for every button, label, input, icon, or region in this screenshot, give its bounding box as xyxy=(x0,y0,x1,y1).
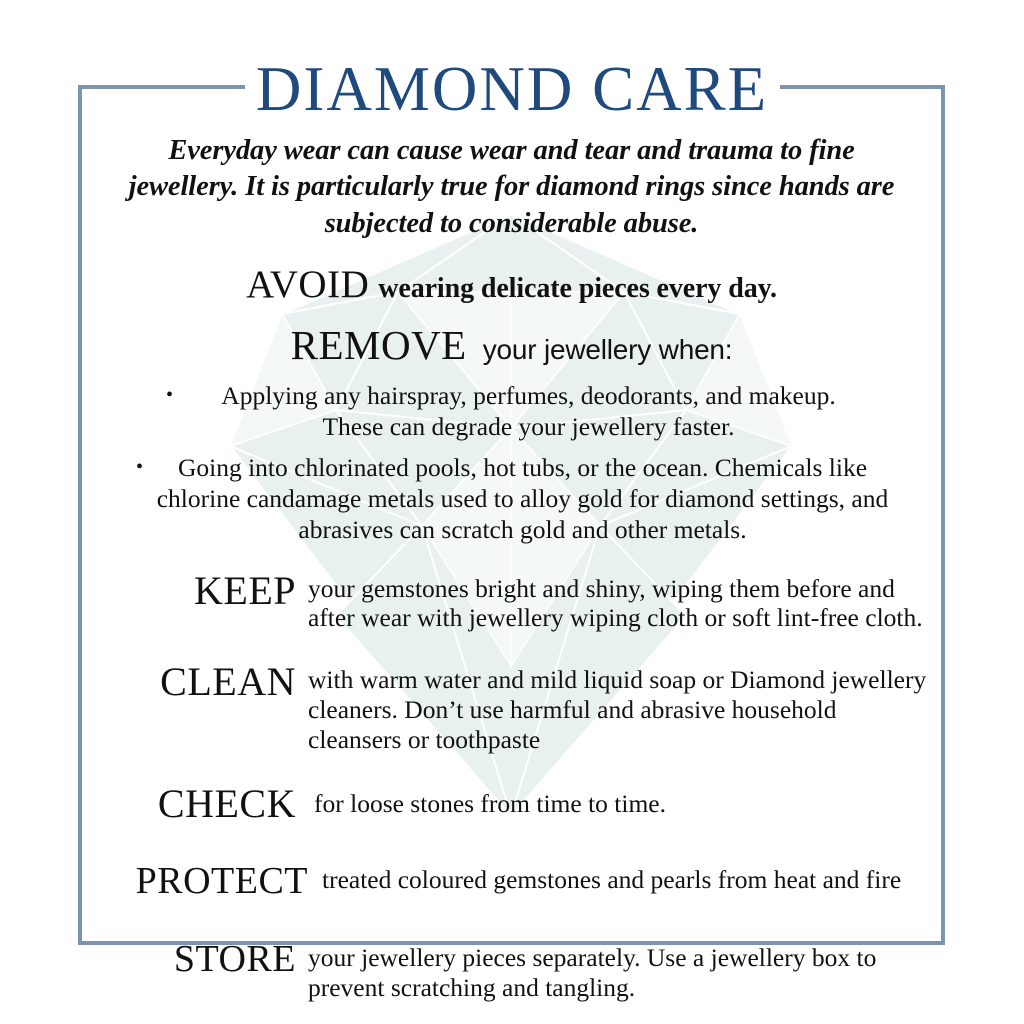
remove-bullet-list: • Applying any hairspray, perfumes, deod… xyxy=(96,381,927,545)
section-check: CHECK for loose stones from time to time… xyxy=(96,785,927,823)
lead-line-avoid: AVOIDwearing delicate pieces every day. xyxy=(96,262,927,307)
bullet-marker-icon: • xyxy=(136,453,143,482)
keyword-store: STORE xyxy=(96,941,296,977)
section-text-store: your jewellery pieces separately. Use a … xyxy=(296,941,927,1003)
section-text-keep: your gemstones bright and shiny, wiping … xyxy=(296,572,927,634)
keyword-clean: CLEAN xyxy=(96,663,296,701)
section-text-protect: treated coloured gemstones and pearls fr… xyxy=(308,863,927,895)
section-protect: PROTECT treated coloured gemstones and p… xyxy=(96,863,927,899)
lead-line-remove: REMOVEyour jewellery when: xyxy=(96,321,927,369)
care-content: Everyday wear can cause wear and tear an… xyxy=(78,85,945,945)
section-text-clean: with warm water and mild liquid soap or … xyxy=(296,663,927,754)
list-item: • Applying any hairspray, perfumes, deod… xyxy=(96,381,927,443)
bullet-text: Applying any hairspray, perfumes, deodor… xyxy=(221,381,835,441)
intro-paragraph: Everyday wear can cause wear and tear an… xyxy=(118,133,905,242)
section-clean: CLEAN with warm water and mild liquid so… xyxy=(96,663,927,754)
bullet-text: Going into chlorinated pools, hot tubs, … xyxy=(157,453,889,544)
keyword-remove: REMOVE xyxy=(291,322,467,368)
lead-text-remove: your jewellery when: xyxy=(467,334,733,365)
keyword-check: CHECK xyxy=(96,785,296,823)
keyword-protect: PROTECT xyxy=(96,863,308,899)
bullet-marker-icon: • xyxy=(166,381,173,410)
keyword-keep: KEEP xyxy=(96,572,296,610)
section-keep: KEEP your gemstones bright and shiny, wi… xyxy=(96,572,927,634)
section-store: STORE your jewellery pieces separately. … xyxy=(96,941,927,1003)
page-title: DIAMOND CARE xyxy=(0,58,1024,121)
lead-text-avoid: wearing delicate pieces every day. xyxy=(369,273,777,304)
keyword-avoid: AVOID xyxy=(246,263,369,306)
list-item: • Going into chlorinated pools, hot tubs… xyxy=(96,453,927,546)
section-text-check: for loose stones from time to time. xyxy=(296,789,927,819)
